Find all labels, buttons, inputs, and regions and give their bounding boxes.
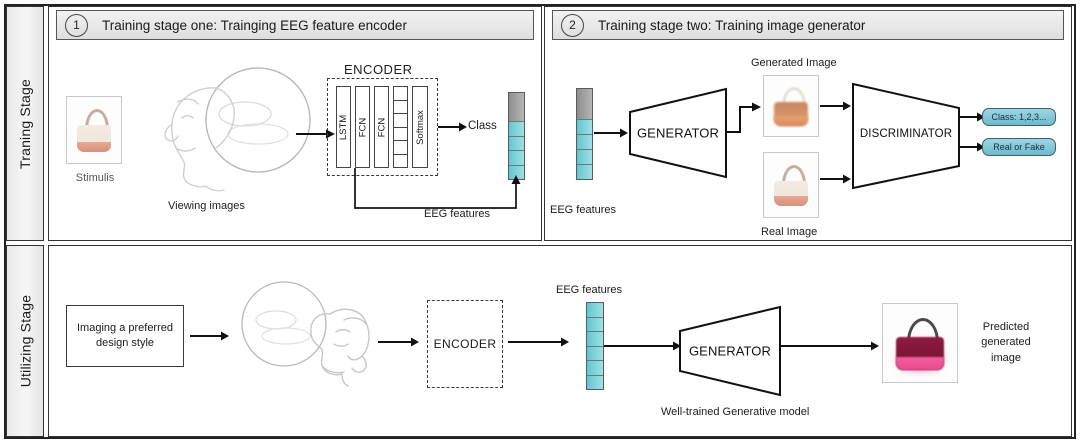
stage-label-training-text: Traning Stage — [17, 78, 33, 168]
eeg-features-label-utilizing: EEG features — [556, 284, 622, 296]
predicted-generated-image — [882, 303, 958, 383]
stage-label-utilizing-text: Utilizing Stage — [17, 295, 33, 388]
generator-label-stage2: GENERATOR — [628, 126, 728, 141]
encoder-label-utilizing: ENCODER — [434, 337, 497, 351]
header-stage-two: 2 Training stage two: Training image gen… — [552, 10, 1064, 40]
header-stage-two-title: Training stage two: Training image gener… — [598, 18, 865, 33]
discriminator-block: DISCRIMINATOR — [851, 82, 961, 190]
header-stage-one-number: 1 — [65, 14, 88, 37]
stage-label-utilizing: Utilizing Stage — [6, 245, 44, 437]
figure-canvas: Traning Stage Utilizing Stage 1 Training… — [0, 0, 1080, 443]
encoder-layer-fcn-2: FCN — [374, 86, 389, 168]
real-image-label: Real Image — [761, 226, 817, 238]
header-stage-two-number: 2 — [561, 14, 584, 37]
arrow-real-to-discriminator — [820, 173, 852, 185]
imagination-head-sketch — [224, 280, 384, 390]
arrow-encoder-to-class — [438, 121, 468, 133]
eeg-features-label-stage2: EEG features — [550, 204, 616, 216]
header-stage-one-title: Training stage one: Trainging EEG featur… — [102, 18, 407, 33]
encoder-layer-softmax-label: Softmax — [415, 110, 426, 145]
output-pill-real-or-fake: Real or Fake — [982, 138, 1056, 156]
arrow-imagination-to-encoder — [378, 336, 420, 348]
stimuli-label: Stimulis — [70, 172, 120, 184]
discriminator-label: DISCRIMINATOR — [851, 128, 961, 140]
viewing-images-label: Viewing images — [168, 200, 245, 212]
arrow-generator-to-predicted-image — [780, 340, 880, 352]
arrow-generator-to-generated-image — [726, 100, 762, 140]
stimuli-image — [66, 96, 122, 164]
generator-block-stage2: GENERATOR — [628, 87, 728, 179]
prompt-box-text: Imaging a preferred design style — [73, 321, 177, 351]
encoder-box-utilizing: ENCODER — [427, 300, 503, 388]
encoder-layer-fcn-2-label: FCN — [376, 117, 387, 137]
class-output-label: Class — [468, 120, 497, 132]
prompt-box: Imaging a preferred design style — [66, 305, 184, 367]
generator-caption-utilizing: Well-trained Generative model — [661, 406, 809, 418]
predicted-image-label: Predicted generated image — [968, 320, 1044, 366]
arrow-features-to-generator — [594, 127, 629, 139]
stage-label-training: Traning Stage — [6, 6, 44, 241]
encoder-layer-softmax: Softmax — [412, 86, 428, 168]
output-pill-class: Class: 1,2,3... — [982, 108, 1056, 126]
eeg-features-label-stage1: EEG features — [424, 208, 490, 220]
eeg-feature-vector-utilizing — [586, 302, 604, 390]
handbag-icon — [887, 308, 953, 378]
handbag-icon — [768, 80, 814, 132]
handbag-icon — [71, 101, 117, 159]
generated-image — [763, 75, 819, 137]
encoder-layer-fcn-1: FCN — [355, 86, 370, 168]
handbag-icon — [768, 157, 814, 213]
generator-label-utilizing: GENERATOR — [678, 344, 782, 359]
generator-block-utilizing: GENERATOR — [678, 305, 782, 397]
arrow-generated-to-discriminator — [820, 100, 852, 112]
eeg-feature-vector-stage2 — [576, 88, 593, 180]
encoder-layer-fcn-1-label: FCN — [357, 117, 368, 137]
arrow-encoder-to-features-utilizing — [508, 336, 570, 348]
encoder-layer-lstm: LSTM — [336, 86, 351, 168]
generated-image-label: Generated Image — [751, 57, 837, 69]
header-stage-one: 1 Training stage one: Trainging EEG feat… — [56, 10, 534, 40]
real-image — [763, 152, 819, 218]
encoder-title-stage1: ENCODER — [344, 62, 413, 77]
encoder-layer-lstm-label: LSTM — [338, 114, 349, 139]
viewer-head-sketch — [140, 62, 320, 192]
encoder-feature-column — [393, 86, 408, 168]
eeg-feature-vector-stage1 — [508, 92, 525, 180]
arrow-features-to-generator-utilizing — [604, 340, 682, 352]
